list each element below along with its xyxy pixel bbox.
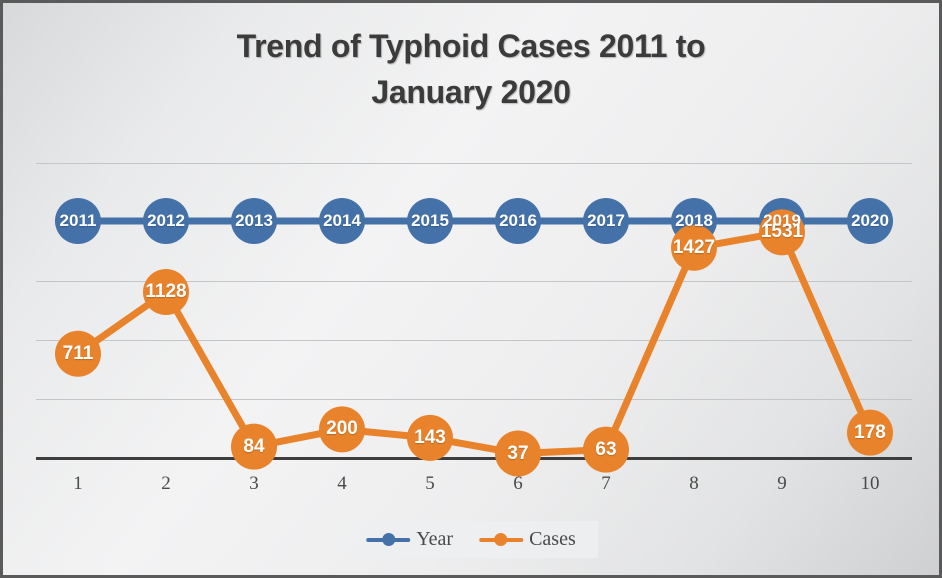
data-point-marker[interactable] [319,198,365,244]
legend-label: Cases [529,528,576,551]
x-axis-tick-label: 6 [513,473,523,495]
data-point-marker[interactable] [55,331,101,377]
x-axis-labels: 12345678910 [36,473,912,499]
x-axis-tick-label: 5 [425,473,435,495]
x-axis-tick-label: 2 [161,473,171,495]
legend-item-year[interactable]: Year [366,528,453,551]
x-axis-tick-label: 7 [601,473,611,495]
chart-legend[interactable]: YearCases [344,521,598,558]
x-axis-tick-label: 9 [777,473,787,495]
data-point-marker[interactable] [231,198,277,244]
x-axis-tick-label: 8 [689,473,699,495]
chart-container: Trend of Typhoid Cases 2011 to January 2… [0,0,942,578]
series-svg [36,163,912,459]
chart-title-line-1: Trend of Typhoid Cases 2011 to [237,28,706,64]
data-point-marker[interactable] [407,415,453,461]
x-axis-tick-label: 10 [861,473,880,495]
legend-swatch-icon [366,533,410,547]
x-axis-tick-label: 3 [249,473,259,495]
data-point-marker[interactable] [319,406,365,452]
data-point-marker[interactable] [759,209,805,255]
legend-item-cases[interactable]: Cases [479,528,576,551]
data-point-marker[interactable] [231,424,277,470]
data-point-marker[interactable] [583,198,629,244]
x-axis-tick-label: 4 [337,473,347,495]
series-line-cases [78,232,870,453]
data-point-marker[interactable] [143,269,189,315]
x-axis-tick-label: 1 [73,473,83,495]
legend-label: Year [416,528,453,551]
data-point-marker[interactable] [143,198,189,244]
legend-swatch-icon [479,533,523,547]
chart-title: Trend of Typhoid Cases 2011 to January 2… [3,23,939,116]
data-point-marker[interactable] [495,431,541,477]
series-points-cases [55,209,893,476]
plot-area: 2011201220132014201520162017201820192020… [36,163,912,459]
data-point-marker[interactable] [671,225,717,271]
data-point-marker[interactable] [495,198,541,244]
data-point-marker[interactable] [847,198,893,244]
data-point-marker[interactable] [847,410,893,456]
data-point-marker[interactable] [407,198,453,244]
data-point-marker[interactable] [55,198,101,244]
data-point-marker[interactable] [583,427,629,473]
chart-title-line-2: January 2020 [371,74,570,110]
